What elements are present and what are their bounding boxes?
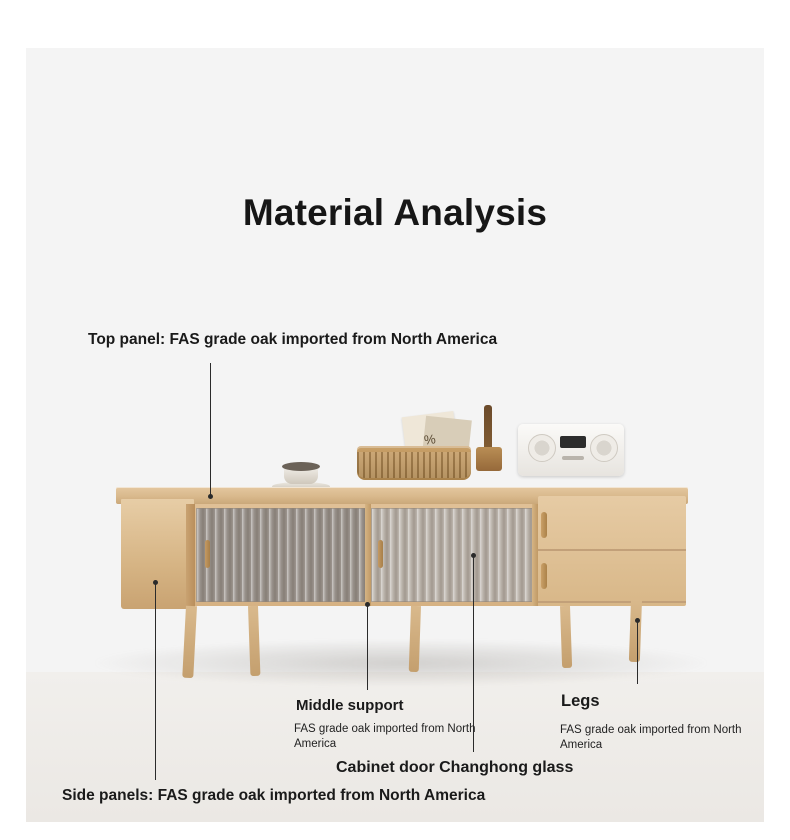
speaker-right-grill-icon [590, 434, 618, 462]
cabinet-side-panel [121, 499, 194, 609]
cabinet-glass-door-left [196, 508, 370, 602]
leader-line-top-panel [210, 363, 211, 496]
cabinet-leg [248, 606, 260, 676]
cabinet-glass-door-right [371, 508, 537, 602]
leader-dot-side-panels [153, 580, 158, 585]
speaker-display [560, 436, 586, 448]
leader-line-middle-support [367, 605, 368, 690]
glass-door-handle-left [205, 540, 210, 568]
drawer-divider [538, 549, 686, 551]
speaker-button [562, 456, 584, 460]
glass-door-handle-right [378, 540, 383, 568]
label-middle-support-subtitle: FAS grade oak imported from North Americ… [294, 722, 516, 752]
leader-dot-middle-support [365, 602, 370, 607]
label-top-panel: Top panel: FAS grade oak imported from N… [88, 331, 497, 349]
label-legs-title: Legs [561, 692, 600, 711]
drawer-handle-lower [541, 563, 547, 589]
speaker-left-grill-icon [528, 434, 556, 462]
leader-dot-cabinet-door [471, 553, 476, 558]
glass-door-divider [365, 504, 371, 606]
cabinet-drawers [538, 496, 686, 606]
leader-line-side-panels [155, 584, 156, 780]
cabinet-side-panel-edge [186, 504, 195, 608]
label-middle-support-title: Middle support [296, 697, 404, 714]
product-illustration: % [0, 0, 790, 840]
leader-dot-legs [635, 618, 640, 623]
drawer-handle-upper [541, 512, 547, 538]
cup-rim-decor [282, 462, 320, 471]
leader-line-legs [637, 622, 638, 684]
label-cabinet-door: Cabinet door Changhong glass [336, 759, 573, 777]
drawer-bottom-edge [538, 601, 686, 603]
poster-canvas: Material Analysis % [0, 0, 790, 840]
label-legs-subtitle: FAS grade oak imported from North Americ… [560, 723, 765, 753]
cabinet-leg [629, 600, 642, 662]
label-side-panels: Side panels: FAS grade oak imported from… [62, 787, 485, 805]
bottle-base-decor [476, 447, 502, 471]
basket-weave-texture [357, 452, 471, 478]
leader-dot-top-panel [208, 494, 213, 499]
cabinet-leg [560, 606, 572, 668]
